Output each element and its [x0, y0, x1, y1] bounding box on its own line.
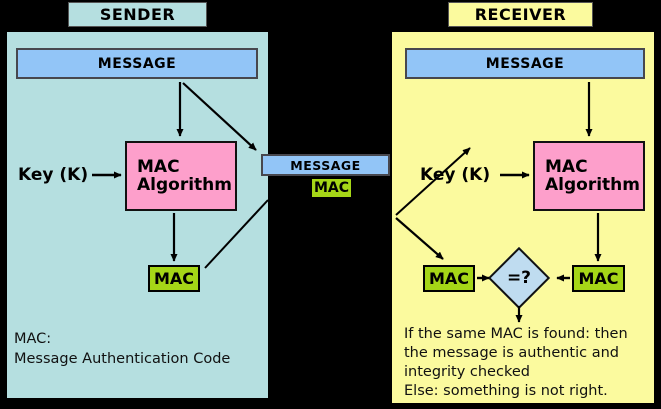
receiver-algorithm-line-2: Algorithm: [545, 176, 643, 194]
receiver-message-box: MESSAGE: [405, 48, 645, 79]
receiver-mac-algorithm-box: MAC Algorithm: [533, 141, 645, 211]
receiver-key-label: Key (K): [420, 165, 490, 185]
sender-key-label: Key (K): [18, 165, 88, 185]
sender-banner: SENDER: [68, 2, 207, 27]
transmitted-mac-chip: MAC: [310, 177, 353, 199]
verification-result-text: If the same MAC is found: then the messa…: [404, 325, 654, 402]
sender-algorithm-line-2: Algorithm: [137, 176, 235, 194]
sender-algorithm-line-1: MAC: [137, 158, 235, 176]
transmitted-message-bar: MESSAGE: [261, 154, 390, 176]
sender-mac-algorithm-box: MAC Algorithm: [125, 141, 237, 211]
receiver-banner: RECEIVER: [448, 2, 593, 27]
mac-legend-text: MAC: Message Authentication Code: [14, 330, 259, 369]
sender-message-box: MESSAGE: [16, 48, 258, 79]
receiver-received-mac-chip: MAC: [423, 265, 475, 292]
receiver-algorithm-line-1: MAC: [545, 158, 643, 176]
diamond-label: =?: [491, 250, 547, 306]
mac-compare-diamond: =?: [491, 250, 547, 306]
receiver-computed-mac-chip: MAC: [572, 265, 625, 292]
sender-mac-chip: MAC: [148, 265, 200, 292]
